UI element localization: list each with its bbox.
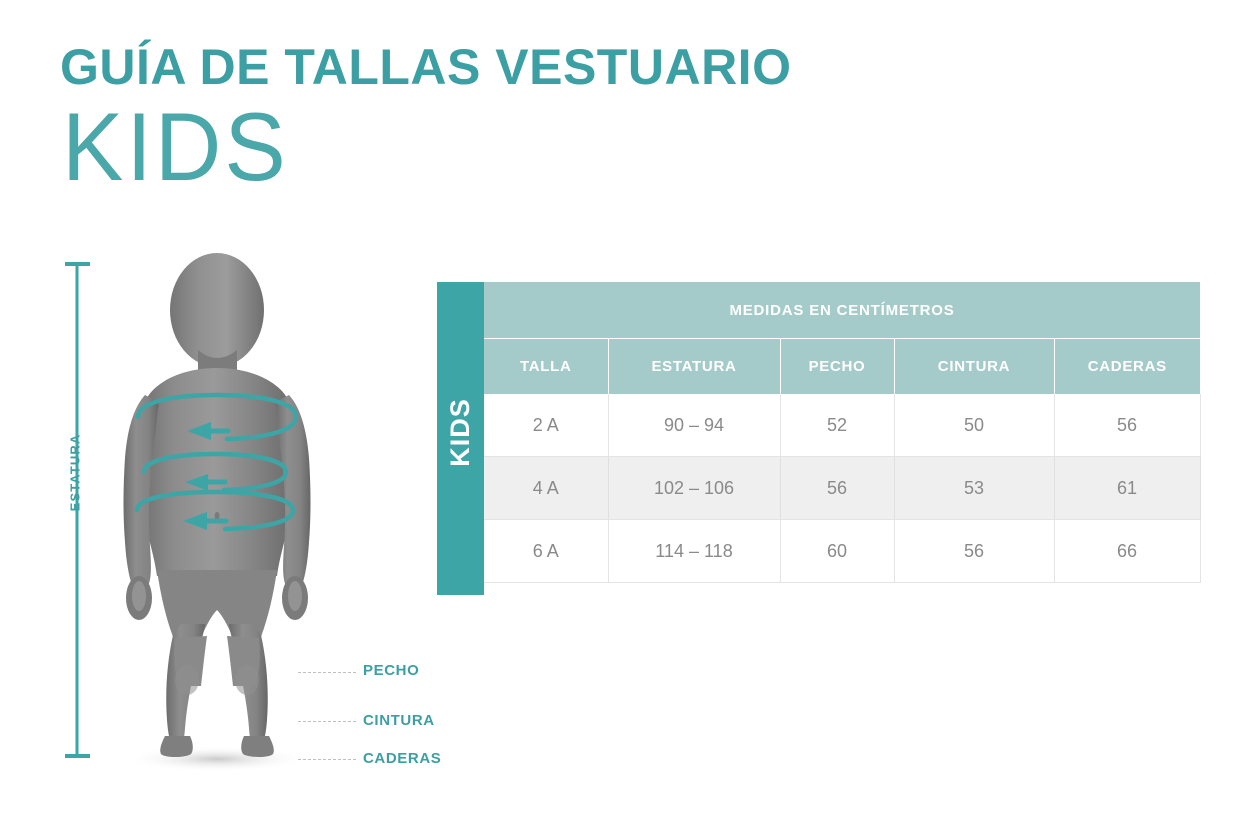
cell-cintura: 56: [894, 520, 1054, 583]
cell-estatura: 114 – 118: [608, 520, 780, 583]
estatura-label: ESTATURA: [68, 423, 83, 523]
mannequin-figure-area: ESTATURA: [55, 250, 425, 780]
cell-caderas: 56: [1054, 394, 1200, 457]
cell-estatura: 102 – 106: [608, 457, 780, 520]
table-row: 2 A 90 – 94 52 50 56: [484, 394, 1200, 457]
table-span-header: MEDIDAS EN CENTÍMETROS: [484, 282, 1200, 339]
column-header-estatura: ESTATURA: [608, 339, 780, 395]
cell-pecho: 60: [780, 520, 894, 583]
cell-talla: 2 A: [484, 394, 608, 457]
measurement-bands: [95, 250, 355, 775]
callout-label-cintura: CINTURA: [363, 712, 435, 729]
page-subtitle: KIDS: [62, 99, 960, 196]
callout-label-caderas: CADERAS: [363, 750, 441, 767]
cell-cintura: 50: [894, 394, 1054, 457]
table-header-row: TALLA ESTATURA PECHO CINTURA CADERAS: [484, 339, 1200, 395]
cell-caderas: 66: [1054, 520, 1200, 583]
table-header-span-row: MEDIDAS EN CENTÍMETROS: [484, 282, 1200, 339]
leader-line-pecho: [298, 672, 356, 673]
band-caderas-icon: [137, 492, 293, 530]
table-row: 4 A 102 – 106 56 53 61: [484, 457, 1200, 520]
column-header-caderas: CADERAS: [1054, 339, 1200, 395]
size-table-container: KIDS MEDIDAS EN CENTÍMETROS TALLA ESTATU…: [437, 282, 1200, 595]
page-title: GUÍA DE TALLAS VESTUARIO: [60, 42, 960, 93]
cell-pecho: 52: [780, 394, 894, 457]
leader-line-caderas: [298, 759, 356, 760]
column-header-cintura: CINTURA: [894, 339, 1054, 395]
column-header-talla: TALLA: [484, 339, 608, 395]
cell-talla: 4 A: [484, 457, 608, 520]
leader-line-cintura: [298, 721, 356, 722]
callout-label-pecho: PECHO: [363, 662, 419, 679]
table-row: 6 A 114 – 118 60 56 66: [484, 520, 1200, 583]
cell-talla: 6 A: [484, 520, 608, 583]
kids-category-strip: KIDS: [437, 282, 484, 595]
band-pecho-icon: [138, 395, 296, 440]
size-table: MEDIDAS EN CENTÍMETROS TALLA ESTATURA PE…: [484, 282, 1201, 583]
cell-caderas: 61: [1054, 457, 1200, 520]
band-cintura-icon: [144, 454, 286, 491]
title-block: GUÍA DE TALLAS VESTUARIO KIDS: [60, 42, 960, 191]
cell-estatura: 90 – 94: [608, 394, 780, 457]
kids-category-label: KIDS: [445, 349, 476, 516]
cell-pecho: 56: [780, 457, 894, 520]
column-header-pecho: PECHO: [780, 339, 894, 395]
cell-cintura: 53: [894, 457, 1054, 520]
